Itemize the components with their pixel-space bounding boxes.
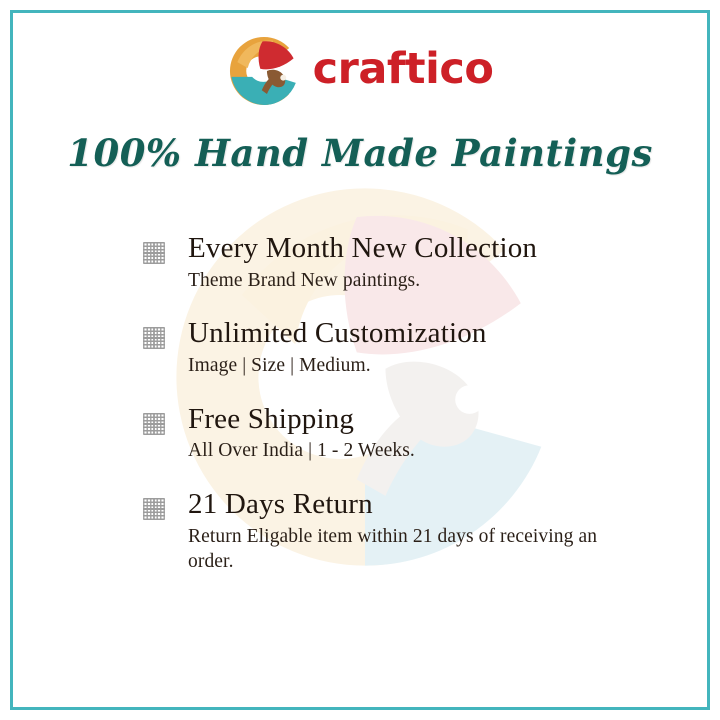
list-item: Unlimited Customization Image | Size | M… (143, 317, 613, 378)
feature-subtitle: Return Eligable item within 21 days of r… (188, 524, 613, 575)
promo-banner: craftico 100% Hand Made Paintings Every … (0, 0, 720, 720)
woven-square-bullet-icon (143, 413, 165, 435)
feature-list: Every Month New Collection Theme Brand N… (143, 232, 613, 575)
brand-wordmark: craftico (313, 48, 494, 95)
list-item: 21 Days Return Return Eligable item with… (143, 488, 613, 575)
feature-title: Unlimited Customization (188, 317, 613, 351)
feature-title: 21 Days Return (188, 488, 613, 522)
woven-square-bullet-icon (143, 327, 165, 349)
feature-subtitle: All Over India | 1 - 2 Weeks. (188, 438, 613, 464)
list-item: Free Shipping All Over India | 1 - 2 Wee… (143, 403, 613, 464)
list-item: Every Month New Collection Theme Brand N… (143, 232, 613, 293)
brand-logo: craftico (0, 34, 720, 108)
feature-title: Every Month New Collection (188, 232, 613, 266)
feature-subtitle: Image | Size | Medium. (188, 353, 613, 379)
feature-title: Free Shipping (188, 403, 613, 437)
woven-square-bullet-icon (143, 242, 165, 264)
page-title: 100% Hand Made Paintings (0, 131, 720, 175)
woven-square-bullet-icon (143, 498, 165, 520)
craftico-paintbrush-c-logo-icon (227, 34, 301, 108)
feature-subtitle: Theme Brand New paintings. (188, 268, 613, 294)
